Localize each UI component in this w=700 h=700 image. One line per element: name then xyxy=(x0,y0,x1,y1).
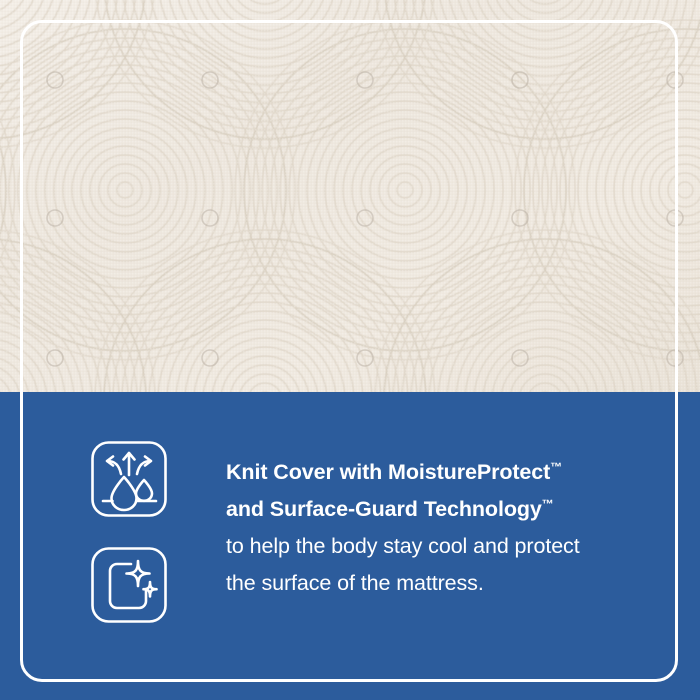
trademark-symbol-1: ™ xyxy=(550,460,562,474)
feature-heading-line-2-text: and Surface-Guard Technology xyxy=(226,497,542,521)
feature-body-line-2: the surface of the mattress. xyxy=(226,565,676,602)
feature-icon-column xyxy=(90,440,170,624)
moisture-wicking-icon xyxy=(90,440,168,518)
fabric-texture-graphic xyxy=(0,0,700,392)
feature-heading-line-1: Knit Cover with MoistureProtect™ xyxy=(226,454,676,491)
feature-heading-line-2: and Surface-Guard Technology™ xyxy=(226,491,676,528)
feature-block: Knit Cover with MoistureProtect™ and Sur… xyxy=(0,392,700,700)
product-feature-card: Knit Cover with MoistureProtect™ and Sur… xyxy=(0,0,700,700)
feature-heading-line-1-text: Knit Cover with MoistureProtect xyxy=(226,460,550,484)
feature-text-column: Knit Cover with MoistureProtect™ and Sur… xyxy=(226,454,676,602)
fabric-texture-image xyxy=(0,0,700,392)
surface-guard-sparkle-icon xyxy=(90,546,168,624)
feature-body-line-1: to help the body stay cool and protect xyxy=(226,528,676,565)
trademark-symbol-2: ™ xyxy=(542,497,554,511)
